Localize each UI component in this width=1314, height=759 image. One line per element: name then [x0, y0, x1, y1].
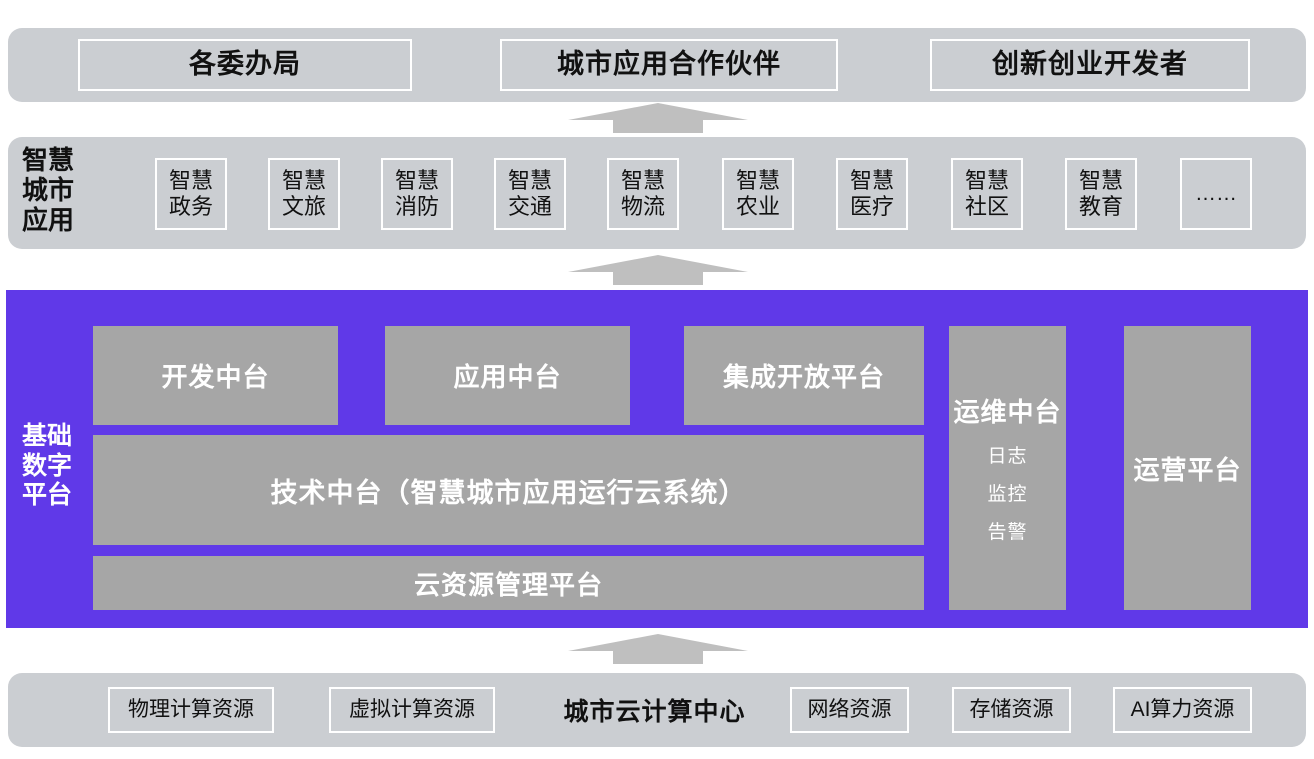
application-chip-label: 智慧 文旅	[282, 168, 326, 220]
ops-sub-item-log: 日志	[987, 441, 1027, 468]
application-chip-label: 智慧 医疗	[850, 168, 894, 220]
application-chip-3[interactable]: 智慧 交通	[494, 158, 566, 230]
cloud-center-title: 城市云计算中心	[545, 687, 764, 733]
infra-chip-label: 存储资源	[970, 698, 1054, 723]
application-chip-label: 智慧 政务	[169, 168, 213, 220]
ops-midend-label: 运维中台	[953, 392, 1061, 429]
infra-chip-physical-compute[interactable]: 物理计算资源	[108, 687, 274, 733]
infra-chip-label: AI算力资源	[1131, 698, 1235, 723]
operation-platform-label: 运营平台	[1133, 450, 1241, 487]
infra-chip-virtual-compute[interactable]: 虚拟计算资源	[329, 687, 495, 733]
technical-midend-box[interactable]: 技术中台（智慧城市应用运行云系统）	[93, 435, 924, 545]
application-chip-more[interactable]: ……	[1180, 158, 1252, 230]
arrow-apps-to-consumers	[568, 103, 748, 133]
application-chip-8[interactable]: 智慧 教育	[1065, 158, 1137, 230]
cloud-resource-platform-label: 云资源管理平台	[414, 565, 603, 602]
development-midend-label: 开发中台	[161, 357, 269, 394]
application-chip-label: 智慧 消防	[395, 168, 439, 220]
application-chip-7[interactable]: 智慧 社区	[951, 158, 1023, 230]
application-chip-label: 智慧 农业	[736, 168, 780, 220]
consumer-chip-2[interactable]: 创新创业开发者	[930, 39, 1250, 91]
cloud-resource-platform-box[interactable]: 云资源管理平台	[93, 556, 924, 610]
application-chip-6[interactable]: 智慧 医疗	[836, 158, 908, 230]
application-chip-1[interactable]: 智慧 文旅	[268, 158, 340, 230]
consumer-chip-0[interactable]: 各委办局	[78, 39, 412, 91]
ops-midend-sub-list: 日志 监控 告警	[987, 441, 1027, 544]
application-chip-4[interactable]: 智慧 物流	[607, 158, 679, 230]
application-midend-box[interactable]: 应用中台	[385, 326, 630, 425]
infra-chip-storage[interactable]: 存储资源	[952, 687, 1071, 733]
integration-open-platform-box[interactable]: 集成开放平台	[684, 326, 924, 425]
application-chip-label: 智慧 交通	[508, 168, 552, 220]
application-chip-2[interactable]: 智慧 消防	[381, 158, 453, 230]
ops-sub-item-alarm: 告警	[987, 517, 1027, 544]
infra-chip-label: 虚拟计算资源	[349, 698, 475, 723]
application-chip-label: 智慧 教育	[1079, 168, 1123, 220]
ops-sub-item-monitor: 监控	[987, 479, 1027, 506]
arrow-infra-to-platform	[568, 634, 748, 664]
operation-platform-box[interactable]: 运营平台	[1124, 326, 1251, 610]
infra-chip-label: 网络资源	[808, 698, 892, 723]
integration-open-platform-label: 集成开放平台	[723, 357, 885, 394]
application-chip-5[interactable]: 智慧 农业	[722, 158, 794, 230]
architecture-diagram: 各委办局 城市应用合作伙伴 创新创业开发者 智慧 城市 应用 智慧 政务 智慧 …	[0, 0, 1314, 759]
ops-midend-box[interactable]: 运维中台 日志 监控 告警	[949, 326, 1066, 610]
infra-chip-label: 物理计算资源	[128, 698, 254, 723]
infra-chip-network[interactable]: 网络资源	[790, 687, 909, 733]
consumer-chip-label: 创新创业开发者	[992, 49, 1188, 81]
application-chip-0[interactable]: 智慧 政务	[155, 158, 227, 230]
consumer-chip-label: 各委办局	[189, 49, 301, 81]
consumer-chip-1[interactable]: 城市应用合作伙伴	[500, 39, 838, 91]
applications-band-title: 智慧 城市 应用	[22, 145, 132, 235]
digital-platform-title: 基础 数字 平台	[22, 422, 102, 511]
application-midend-label: 应用中台	[453, 357, 561, 394]
application-chip-label: 智慧 社区	[965, 168, 1009, 220]
technical-midend-label: 技术中台（智慧城市应用运行云系统）	[271, 471, 747, 510]
consumer-chip-label: 城市应用合作伙伴	[557, 49, 781, 81]
infra-chip-ai-compute[interactable]: AI算力资源	[1113, 687, 1252, 733]
application-chip-label: ……	[1195, 182, 1237, 207]
development-midend-box[interactable]: 开发中台	[93, 326, 338, 425]
arrow-platform-to-apps	[568, 255, 748, 285]
application-chip-label: 智慧 物流	[621, 168, 665, 220]
